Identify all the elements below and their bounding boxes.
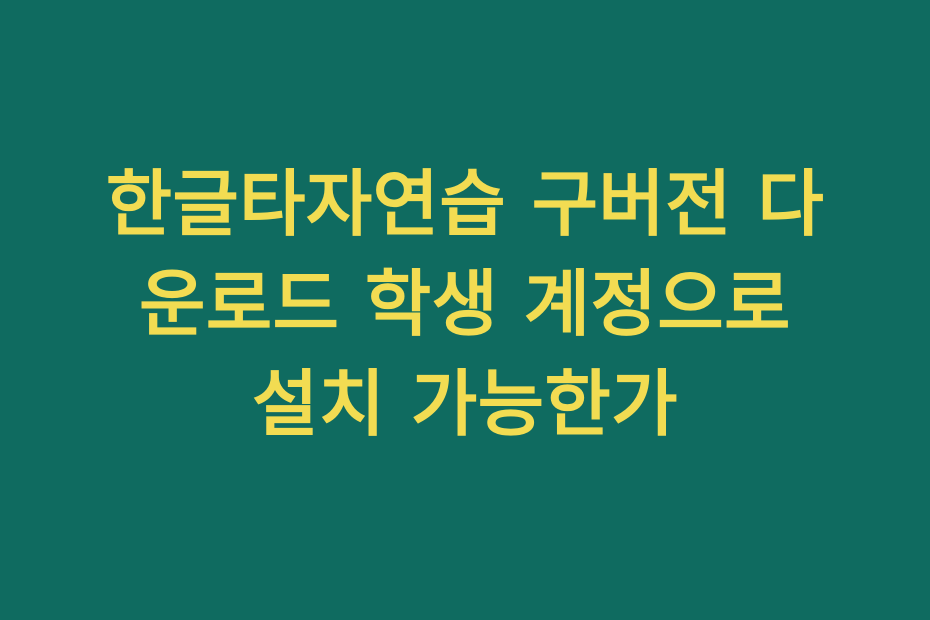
title-line-1: 한글타자연습 구버전 다 — [40, 154, 890, 254]
title-line-3: 설치 가능한가 — [40, 354, 890, 454]
thumbnail-card: 한글타자연습 구버전 다 운로드 학생 계정으로 설치 가능한가 — [0, 0, 930, 620]
title-block: 한글타자연습 구버전 다 운로드 학생 계정으로 설치 가능한가 — [0, 154, 930, 454]
title-line-2: 운로드 학생 계정으로 — [40, 254, 890, 354]
